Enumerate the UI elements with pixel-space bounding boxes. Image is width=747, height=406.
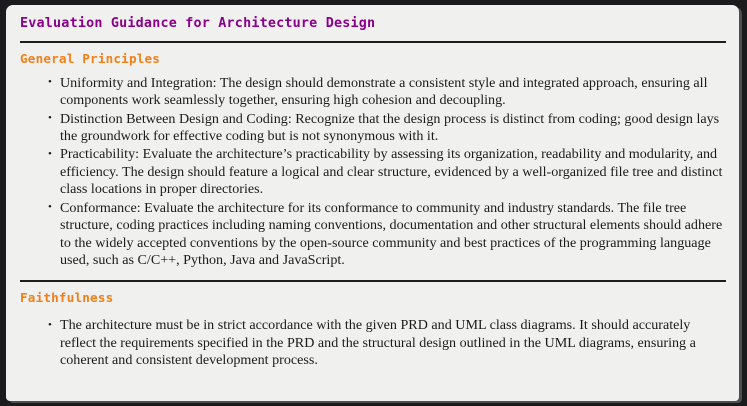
section-heading-general-principles: General Principles xyxy=(20,43,726,66)
page-frame: Evaluation Guidance for Architecture Des… xyxy=(0,0,747,406)
list-item: Practicability: Evaluate the architectur… xyxy=(48,146,726,199)
guidance-card: Evaluation Guidance for Architecture Des… xyxy=(6,5,739,401)
bullet-list-general-principles: Uniformity and Integration: The design s… xyxy=(20,75,726,270)
list-item: Distinction Between Design and Coding: R… xyxy=(48,111,726,146)
section-faithfulness: Faithfulness The architecture must be in… xyxy=(20,280,726,370)
list-item: Uniformity and Integration: The design s… xyxy=(48,75,726,110)
section-general-principles: General Principles Uniformity and Integr… xyxy=(20,41,726,270)
section-heading-faithfulness: Faithfulness xyxy=(20,282,726,305)
page-title: Evaluation Guidance for Architecture Des… xyxy=(20,5,726,33)
list-item: Conformance: Evaluate the architecture f… xyxy=(48,200,726,270)
list-item: The architecture must be in strict accor… xyxy=(48,317,726,370)
bullet-list-faithfulness: The architecture must be in strict accor… xyxy=(20,317,726,370)
